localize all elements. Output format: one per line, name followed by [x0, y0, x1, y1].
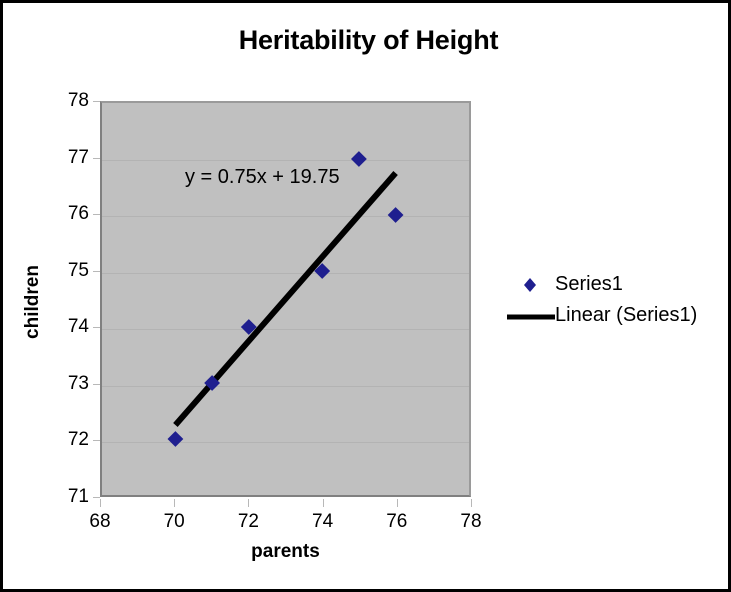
y-axis-tick: [93, 158, 100, 159]
y-axis-tick-label: 74: [43, 317, 89, 336]
x-axis-tick-label: 76: [367, 511, 427, 533]
x-axis-tick: [174, 499, 175, 507]
plot-graphics: [102, 103, 469, 495]
x-axis-tick: [248, 499, 249, 507]
x-axis-tick: [100, 499, 101, 507]
line-swatch-icon: [503, 301, 555, 332]
legend-item-series1: Series1: [503, 270, 728, 301]
x-axis-tick: [397, 499, 398, 507]
x-axis-tick-label: 70: [144, 511, 204, 533]
y-axis-tick-label: 71: [43, 487, 89, 506]
legend-label-linear-series1: Linear (Series1): [555, 304, 697, 327]
y-axis-tick: [93, 271, 100, 272]
y-axis-tick-label: 72: [43, 430, 89, 449]
data-point-marker: [167, 431, 183, 447]
y-axis-tick-label: 77: [43, 148, 89, 167]
x-axis-tick-label: 72: [218, 511, 278, 533]
y-axis-tick-label: 75: [43, 261, 89, 280]
chart-legend: Series1 Linear (Series1): [503, 270, 728, 332]
y-axis-tick: [93, 384, 100, 385]
chart-container: Heritability of Height y = 0.75x + 19.75…: [0, 0, 731, 592]
y-axis-tick: [93, 101, 100, 102]
data-point-marker: [388, 207, 404, 223]
chart-title: Heritability of Height: [3, 25, 731, 56]
y-axis-tick-label: 76: [43, 204, 89, 223]
y-axis-tick-label: 78: [43, 91, 89, 110]
plot-area: [100, 101, 471, 497]
y-axis-tick: [93, 440, 100, 441]
x-axis-title: parents: [100, 541, 471, 563]
y-axis-tick-labels: 7877767574737271: [37, 3, 89, 592]
y-axis-tick: [93, 327, 100, 328]
y-axis-tick: [93, 497, 100, 498]
legend-label-series1: Series1: [555, 273, 623, 296]
diamond-marker-icon: [503, 270, 555, 301]
y-axis-tick-label: 73: [43, 374, 89, 393]
x-axis-tick-label: 74: [293, 511, 353, 533]
x-axis-tick: [471, 499, 472, 507]
legend-item-linear-series1: Linear (Series1): [503, 301, 728, 332]
y-axis-tick: [93, 214, 100, 215]
x-axis-tick-label: 68: [70, 511, 130, 533]
x-axis-tick-label: 78: [441, 511, 501, 533]
y-axis-title: children: [22, 239, 44, 365]
trendline-equation-label: y = 0.75x + 19.75: [185, 166, 340, 189]
data-point-marker: [351, 151, 367, 167]
x-axis-tick: [323, 499, 324, 507]
